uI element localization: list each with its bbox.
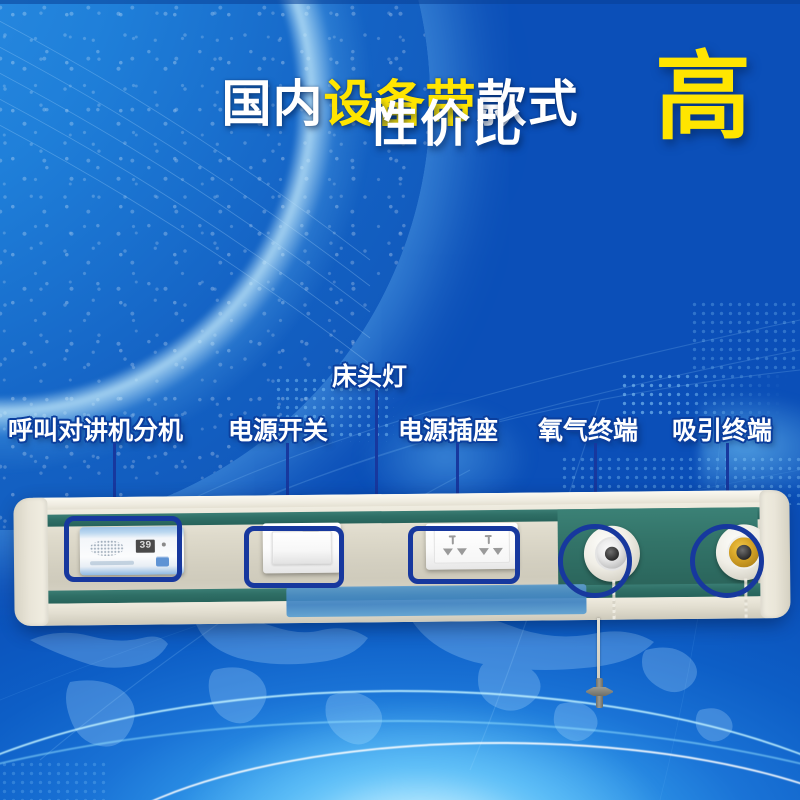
callout-label-suction-terminal: 吸引终端 — [672, 411, 772, 447]
highlight-box-power-socket — [408, 526, 520, 584]
callout-label-intercom: 呼叫对讲机分机 — [8, 411, 183, 447]
callout-label-power-socket: 电源插座 — [398, 411, 498, 447]
halftone-dots-bottom-left — [0, 760, 110, 800]
highlight-circle-oxygen-terminal — [558, 524, 632, 598]
top-edge-bar — [0, 0, 800, 4]
gas-probe-handle — [584, 678, 614, 708]
halftone-dots-upper-right — [690, 300, 800, 370]
highlight-box-intercom — [64, 516, 182, 582]
headline-emphasis-high: 高 — [655, 50, 751, 146]
banner-canvas: 国内设备带款式 性价比 高 呼叫对讲机分机 电源开关 床头灯 电源插座 氧气终端… — [0, 0, 800, 800]
callout-label-oxygen-terminal: 氧气终端 — [538, 411, 638, 447]
callout-label-bedside-lamp: 床头灯 — [332, 357, 407, 393]
panel-left-end-cap — [13, 498, 48, 626]
headline-line-2-block: 性价比 高 — [0, 74, 800, 194]
probe-cross-icon — [586, 687, 613, 696]
gas-probe-cord — [597, 618, 600, 686]
highlight-box-power-switch — [244, 526, 344, 588]
panel-right-end-cap — [759, 490, 790, 618]
headline-value-for-money: 性价比 — [368, 84, 524, 156]
protective-film-strip — [286, 584, 586, 617]
callout-label-power-switch: 电源开关 — [228, 411, 328, 447]
highlight-circle-suction-terminal — [690, 524, 764, 598]
